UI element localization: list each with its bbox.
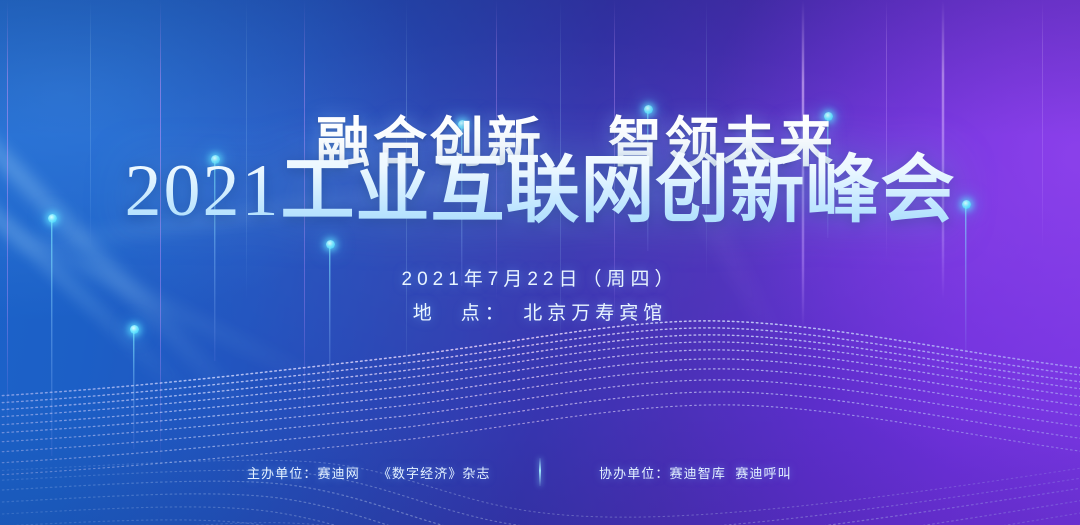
event-date: 2021年7月22日（周四） xyxy=(0,264,1080,291)
title-year: 2021 xyxy=(125,150,281,232)
organizer-block: 主办单位：赛迪网《数字经济》杂志 xyxy=(247,463,539,482)
pin-dot-icon xyxy=(130,325,139,334)
organizer-name-2: 《数字经济》杂志 xyxy=(378,466,491,481)
co-organizer-block: 协办单位：赛迪智库 赛迪呼叫 xyxy=(541,463,833,482)
event-venue: 地 点： 北京万寿宾馆 xyxy=(0,298,1080,325)
organizer-name-1: 赛迪网 xyxy=(318,466,360,481)
organizer-label: 主办单位： xyxy=(247,466,318,481)
page-title: 2021工业互联网创新峰会 xyxy=(0,130,1080,237)
co-organizer-separator xyxy=(726,466,735,481)
pin-stem xyxy=(133,331,134,449)
co-organizer-label: 协办单位： xyxy=(599,466,670,481)
title-main: 工业互联网创新峰会 xyxy=(281,148,956,231)
event-poster: 融合创新智领未来 2021工业互联网创新峰会 2021年7月22日（周四） 地 … xyxy=(0,0,1080,525)
co-organizer-name-1: 赛迪智库 xyxy=(670,466,726,481)
co-organizer-name-2: 赛迪呼叫 xyxy=(735,466,791,481)
pin-dot-icon xyxy=(326,240,335,249)
pin-stem xyxy=(51,220,52,456)
poster-footer: 主办单位：赛迪网《数字经济》杂志 协办单位：赛迪智库 赛迪呼叫 xyxy=(0,458,1080,486)
